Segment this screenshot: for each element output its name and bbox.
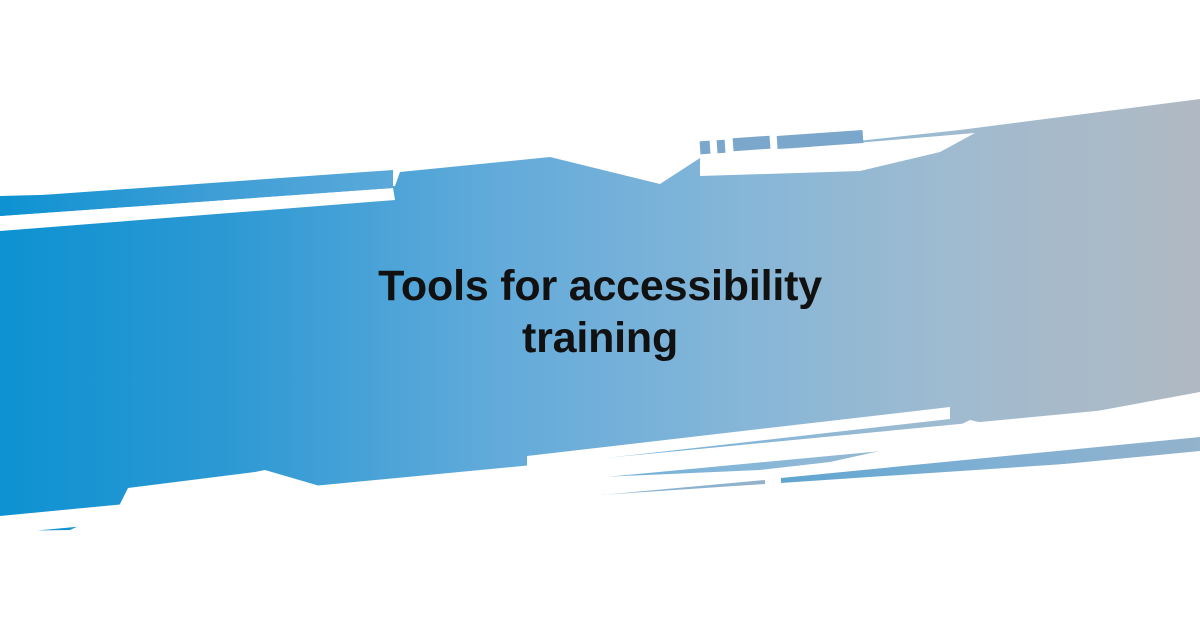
decorative-background-art bbox=[0, 0, 1200, 630]
dash-segment-1 bbox=[700, 141, 711, 155]
banner-container: Tools for accessibility training bbox=[0, 0, 1200, 630]
dash-segment-3 bbox=[733, 136, 771, 152]
dash-segment-2 bbox=[717, 140, 726, 154]
